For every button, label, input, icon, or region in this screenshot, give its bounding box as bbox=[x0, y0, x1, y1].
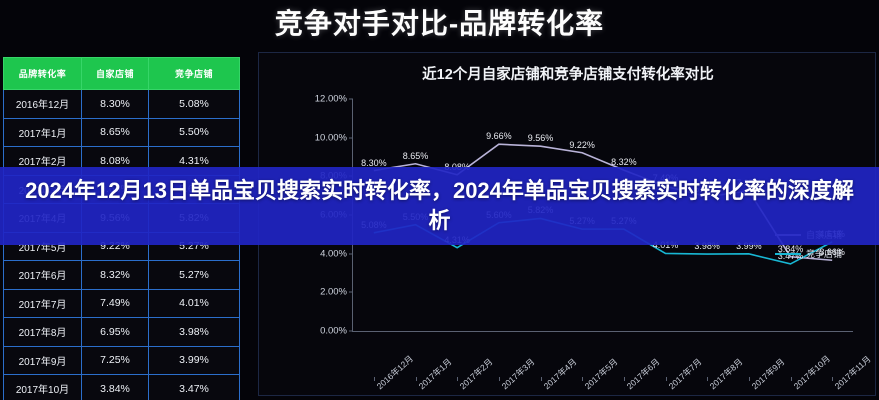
chart-x-tick-mark bbox=[749, 377, 750, 381]
table-col-header-metric: 品牌转化率 bbox=[4, 58, 82, 90]
table-cell-own-shop: 7.25% bbox=[82, 346, 149, 375]
overlay-banner-text: 2024年12月13日单品宝贝搜索实时转化率，2024年单品宝贝搜索实时转化率的… bbox=[0, 167, 879, 245]
chart-x-tick-label: 2017年2月 bbox=[457, 356, 495, 392]
chart-x-tick-mark bbox=[541, 377, 542, 381]
chart-data-label: 8.65% bbox=[403, 151, 429, 161]
chart-x-tick-mark bbox=[582, 377, 583, 381]
chart-x-tick-mark bbox=[707, 377, 708, 381]
chart-y-tick-label: 0.00% bbox=[320, 326, 347, 337]
table-cell-competitor-shop: 3.47% bbox=[149, 375, 240, 400]
table-cell-month: 2017年6月 bbox=[4, 261, 82, 290]
legend-line-icon bbox=[775, 253, 801, 255]
chart-data-label: 9.56% bbox=[528, 133, 554, 143]
chart-x-tick-mark bbox=[624, 377, 625, 381]
chart-x-tick-mark bbox=[791, 377, 792, 381]
chart-y-tick-label: 10.00% bbox=[315, 132, 347, 143]
chart-x-tick-label: 2017年1月 bbox=[416, 356, 454, 392]
table-cell-month: 2017年1月 bbox=[4, 118, 82, 147]
table-cell-own-shop: 3.84% bbox=[82, 375, 149, 400]
chart-x-tick-mark bbox=[499, 377, 500, 381]
table-cell-competitor-shop: 5.08% bbox=[149, 90, 240, 119]
chart-x-tick-label: 2017年11月 bbox=[832, 353, 873, 392]
chart-y-tick-mark bbox=[349, 253, 353, 254]
chart-x-tick-label: 2017年10月 bbox=[791, 353, 833, 392]
chart-y-tick-label: 4.00% bbox=[320, 248, 347, 259]
screenshot-root: 竞争对手对比-品牌转化率 品牌转化率 自家店铺 竞争店铺 2016年12月8.3… bbox=[0, 0, 879, 400]
table-cell-own-shop: 8.32% bbox=[82, 261, 149, 290]
table-cell-competitor-shop: 3.99% bbox=[149, 346, 240, 375]
legend-item-competitor-shop[interactable]: 竞争店铺 bbox=[775, 244, 867, 263]
table-row: 2017年6月8.32%5.27% bbox=[4, 261, 240, 290]
chart-data-label: 8.32% bbox=[611, 157, 637, 167]
table-col-header-own-shop: 自家店铺 bbox=[82, 58, 149, 90]
chart-y-tick-mark bbox=[349, 137, 353, 138]
chart-x-tick-label: 2017年8月 bbox=[707, 356, 745, 392]
table-cell-own-shop: 7.49% bbox=[82, 289, 149, 318]
chart-x-tick-label: 2017年6月 bbox=[624, 356, 662, 392]
chart-x-tick-mark bbox=[832, 377, 833, 381]
chart-x-tick-mark bbox=[374, 377, 375, 381]
table-cell-own-shop: 8.30% bbox=[82, 90, 149, 119]
table-cell-competitor-shop: 4.01% bbox=[149, 289, 240, 318]
chart-x-tick-label: 2017年4月 bbox=[541, 356, 579, 392]
chart-x-tick-label: 2017年7月 bbox=[666, 356, 704, 392]
table-cell-competitor-shop: 3.98% bbox=[149, 318, 240, 347]
chart-y-tick-mark bbox=[349, 292, 353, 293]
table-row: 2017年7月7.49%4.01% bbox=[4, 289, 240, 318]
chart-x-tick-mark bbox=[666, 377, 667, 381]
chart-y-tick-mark bbox=[349, 331, 353, 332]
chart-y-tick-label: 2.00% bbox=[320, 287, 347, 298]
chart-data-label: 9.22% bbox=[569, 140, 595, 150]
chart-x-tick-mark bbox=[416, 377, 417, 381]
table-cell-own-shop: 6.95% bbox=[82, 318, 149, 347]
table-cell-competitor-shop: 5.27% bbox=[149, 261, 240, 290]
table-cell-own-shop: 8.65% bbox=[82, 118, 149, 147]
chart-y-tick-label: 12.00% bbox=[315, 94, 347, 105]
chart-x-tick-label: 2016年12月 bbox=[374, 353, 416, 392]
chart-x-tick-mark bbox=[457, 377, 458, 381]
chart-x-tick-label: 2017年5月 bbox=[582, 356, 620, 392]
table-col-header-competitor-shop: 竞争店铺 bbox=[149, 58, 240, 90]
legend-label: 竞争店铺 bbox=[806, 247, 842, 260]
table-row: 2017年1月8.65%5.50% bbox=[4, 118, 240, 147]
table-cell-month: 2016年12月 bbox=[4, 90, 82, 119]
chart-data-label: 9.66% bbox=[486, 131, 512, 141]
table-cell-month: 2017年7月 bbox=[4, 289, 82, 318]
chart-y-tick-mark bbox=[349, 99, 353, 100]
table-cell-month: 2017年8月 bbox=[4, 318, 82, 347]
table-row: 2017年10月3.84%3.47% bbox=[4, 375, 240, 400]
table-cell-month: 2017年9月 bbox=[4, 346, 82, 375]
page-title: 竞争对手对比-品牌转化率 bbox=[0, 2, 879, 42]
table-cell-month: 2017年10月 bbox=[4, 375, 82, 400]
chart-title: 近12个月自家店铺和竞争店铺支付转化率对比 bbox=[259, 63, 877, 84]
chart-x-tick-label: 2017年9月 bbox=[749, 356, 787, 392]
table-header-row: 品牌转化率 自家店铺 竞争店铺 bbox=[4, 58, 240, 90]
table-row: 2016年12月8.30%5.08% bbox=[4, 90, 240, 119]
chart-x-axis bbox=[352, 331, 853, 332]
table-row: 2017年9月7.25%3.99% bbox=[4, 346, 240, 375]
table-cell-competitor-shop: 5.50% bbox=[149, 118, 240, 147]
chart-x-tick-label: 2017年3月 bbox=[499, 356, 537, 392]
table-row: 2017年8月6.95%3.98% bbox=[4, 318, 240, 347]
